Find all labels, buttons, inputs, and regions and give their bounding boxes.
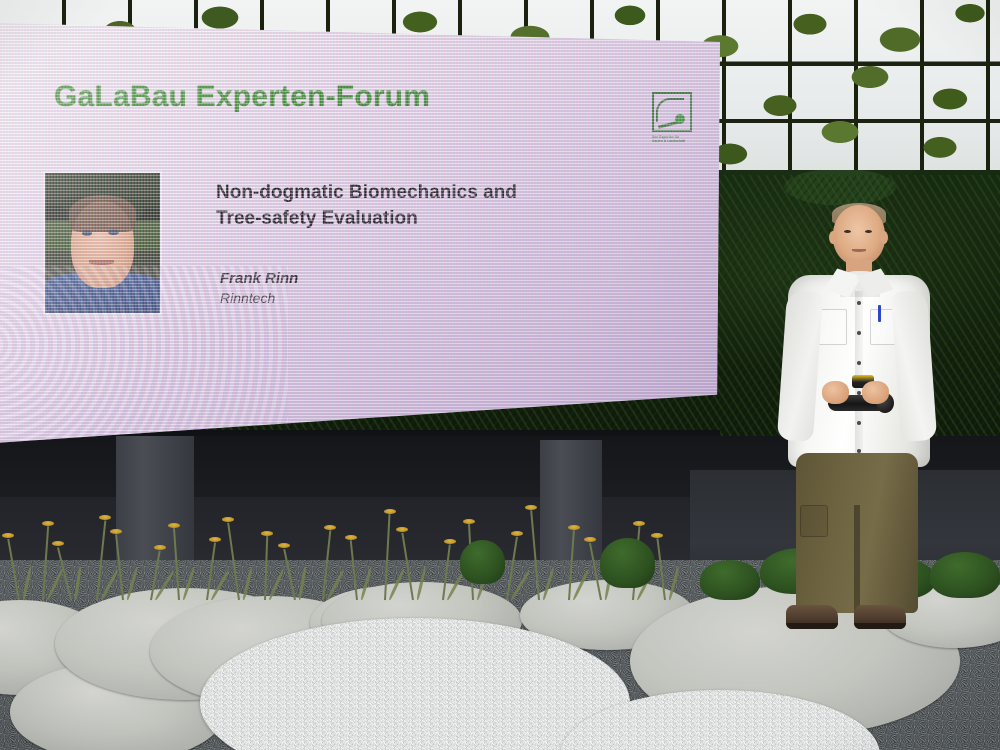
leg-separation (854, 505, 860, 613)
slide-heading: Non-dogmatic Biomechanics and Tree-safet… (216, 180, 517, 231)
shirt-button (857, 331, 861, 335)
shirt-button (857, 301, 861, 305)
galabau-logo: Ihre Experten für Garten & Landschaft (652, 92, 694, 148)
hand-right (862, 381, 889, 404)
slide-heading-line2: Tree-safety Evaluation (216, 206, 517, 232)
slide-surface: GaLaBau Experten-Forum Non-dogmatic Biom… (0, 18, 720, 446)
photo-scene: GaLaBau Experten-Forum Non-dogmatic Biom… (0, 0, 1000, 750)
shirt-button (857, 421, 861, 425)
head (833, 205, 885, 265)
ear-left (829, 231, 837, 244)
trouser-pocket (800, 505, 828, 537)
shoe-sole-right (854, 623, 906, 629)
shrub (600, 538, 655, 588)
eye-right (865, 230, 872, 233)
pen-icon (878, 305, 881, 322)
shoe-sole-left (786, 623, 838, 629)
shirt-button (857, 361, 861, 365)
presenter-name: Frank Rinn (220, 270, 298, 287)
slide-title: GaLaBau Experten-Forum (54, 80, 430, 114)
presenter-company: Rinntech (220, 290, 275, 306)
logo-tagline-line2: Garten & Landschaft (652, 139, 694, 143)
mouth (852, 249, 866, 252)
logo-box-icon (652, 92, 692, 132)
led-presentation-screen[interactable]: GaLaBau Experten-Forum Non-dogmatic Biom… (0, 18, 720, 446)
screen-support-post-left (116, 436, 194, 568)
shrub (700, 560, 760, 600)
presenter-person (770, 205, 945, 645)
shrub (460, 540, 505, 584)
presenter-headshot-photo (45, 173, 160, 313)
ear-right (880, 231, 888, 244)
slide-heading-line1: Non-dogmatic Biomechanics and (216, 180, 517, 206)
eye-left (844, 230, 851, 233)
hand-left (822, 381, 849, 404)
screen-support-post-right (540, 440, 602, 566)
logo-tagline: Ihre Experten für Garten & Landschaft (652, 135, 694, 144)
